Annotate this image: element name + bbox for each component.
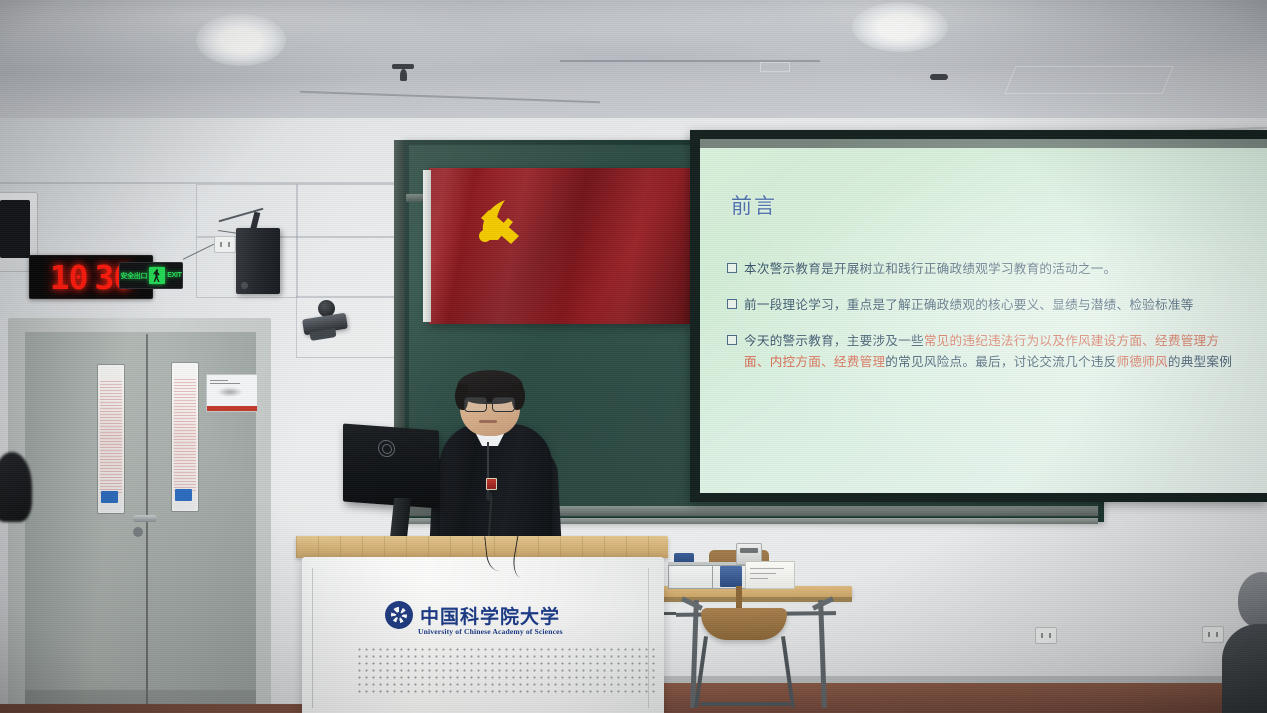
audience-person-shoulder <box>1222 624 1267 713</box>
door-glass-panel <box>171 362 199 512</box>
paper-box <box>745 561 795 589</box>
hammer-and-sickle-icon <box>475 196 531 246</box>
ceiling-vent <box>760 62 790 72</box>
air-conditioner-grille <box>0 200 30 258</box>
chair-post <box>736 586 742 610</box>
wall-speaker <box>236 228 280 294</box>
wall-panel <box>296 236 398 298</box>
ceiling-downlight <box>852 2 948 52</box>
chair-foot-rail <box>700 702 790 706</box>
dell-logo-icon <box>378 439 395 457</box>
door-handle[interactable] <box>133 515 157 522</box>
lecture-room-photo: 10 30 安全出口 EXIT <box>0 0 1267 713</box>
blue-container <box>720 566 742 587</box>
door-notice-paper <box>174 379 196 491</box>
power-outlet[interactable] <box>1202 626 1224 643</box>
door-notice-paper <box>100 381 122 493</box>
screen-glow <box>700 139 1267 493</box>
running-man-icon <box>149 267 165 284</box>
ucas-logo-cn: 中国科学院大学 <box>420 602 560 629</box>
dell-monitor-back <box>343 423 439 508</box>
chair-seat <box>701 608 787 640</box>
speaker-eyebrow <box>494 393 511 396</box>
power-outlet[interactable] <box>214 236 236 253</box>
flag-hoist-band <box>423 170 431 322</box>
party-emblem-pin <box>486 478 497 490</box>
speaker-mouth <box>479 420 497 423</box>
door-leaf-gap <box>146 334 148 713</box>
clock-hours: 10 <box>50 261 88 294</box>
flag-fold-shading <box>429 168 691 324</box>
podium-speaker-grille <box>358 648 658 696</box>
exit-sign-right-label: EXIT <box>167 272 181 279</box>
podium-worktop-grain <box>296 536 668 558</box>
floor <box>648 683 1267 713</box>
door-blue-sticker <box>101 491 118 503</box>
wall-panel <box>296 184 398 238</box>
door-glass-panel <box>97 364 125 514</box>
door-lock[interactable] <box>133 527 143 537</box>
door-notice-sign <box>206 374 258 412</box>
speaker-eyebrow <box>466 393 483 396</box>
ceiling-vent <box>1004 66 1173 94</box>
glasses-icon <box>464 397 487 412</box>
podium-seam <box>312 568 313 708</box>
ceiling-fixture <box>930 74 948 80</box>
glasses-icon <box>492 397 515 412</box>
microphone-head <box>486 492 492 501</box>
storage-bin <box>668 565 716 589</box>
ceiling-downlight <box>196 14 286 66</box>
door-blue-sticker <box>175 489 192 501</box>
power-outlet[interactable] <box>1035 627 1057 644</box>
ceiling-fixture <box>400 69 407 81</box>
ucas-seal-icon <box>385 601 413 629</box>
glasses-bridge <box>485 402 492 404</box>
ucas-logo-en: University of Chinese Academy of Science… <box>418 627 563 636</box>
exit-sign-left-label: 安全出口 <box>120 271 147 281</box>
emergency-exit-sign: 安全出口 EXIT <box>119 262 183 289</box>
